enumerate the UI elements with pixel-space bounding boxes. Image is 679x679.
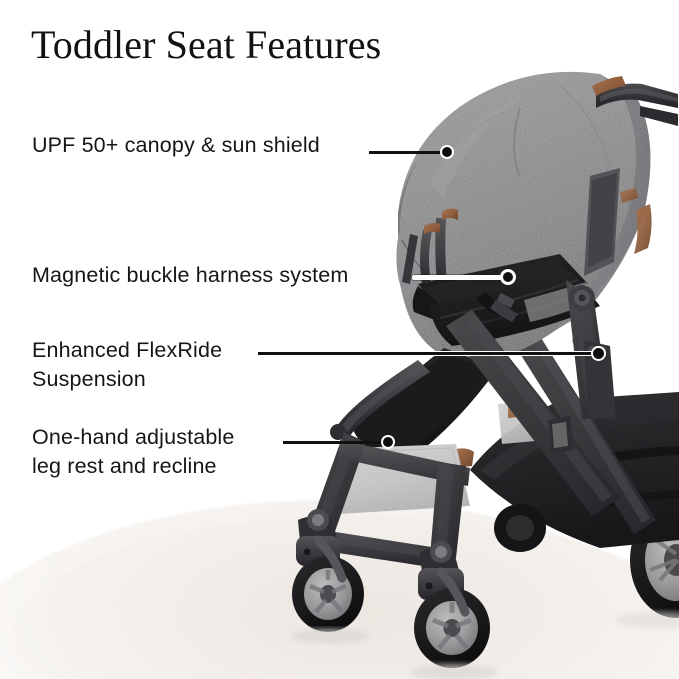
callout-dot-icon-flexride-suspension bbox=[591, 346, 606, 361]
wheel-contact-shadow bbox=[290, 629, 370, 643]
front-wheel-right bbox=[414, 541, 490, 668]
front-wheel-left bbox=[292, 509, 364, 632]
annotation-label-leg-rest-recline: One-hand adjustable leg rest and recline bbox=[32, 423, 234, 481]
callout-dot-icon-leg-rest-recline bbox=[381, 435, 395, 449]
leader-line-leg-rest-recline bbox=[283, 441, 388, 444]
callout-dot-icon-upf-canopy bbox=[440, 145, 454, 159]
leader-line-flexride-suspension bbox=[258, 351, 602, 356]
page-title: Toddler Seat Features bbox=[31, 22, 381, 68]
leader-line-magnetic-buckle bbox=[412, 275, 508, 280]
annotation-label-upf-canopy: UPF 50+ canopy & sun shield bbox=[32, 131, 320, 160]
leader-line-upf-canopy bbox=[369, 151, 448, 154]
callout-dot-icon-magnetic-buckle bbox=[500, 269, 516, 285]
infographic-canvas: Toddler Seat Features UPF 50+ canopy & s… bbox=[0, 0, 679, 679]
rear-wheel-inner bbox=[494, 504, 546, 552]
annotation-label-flexride-suspension: Enhanced FlexRide Suspension bbox=[32, 336, 222, 394]
annotation-label-magnetic-buckle: Magnetic buckle harness system bbox=[32, 261, 348, 290]
